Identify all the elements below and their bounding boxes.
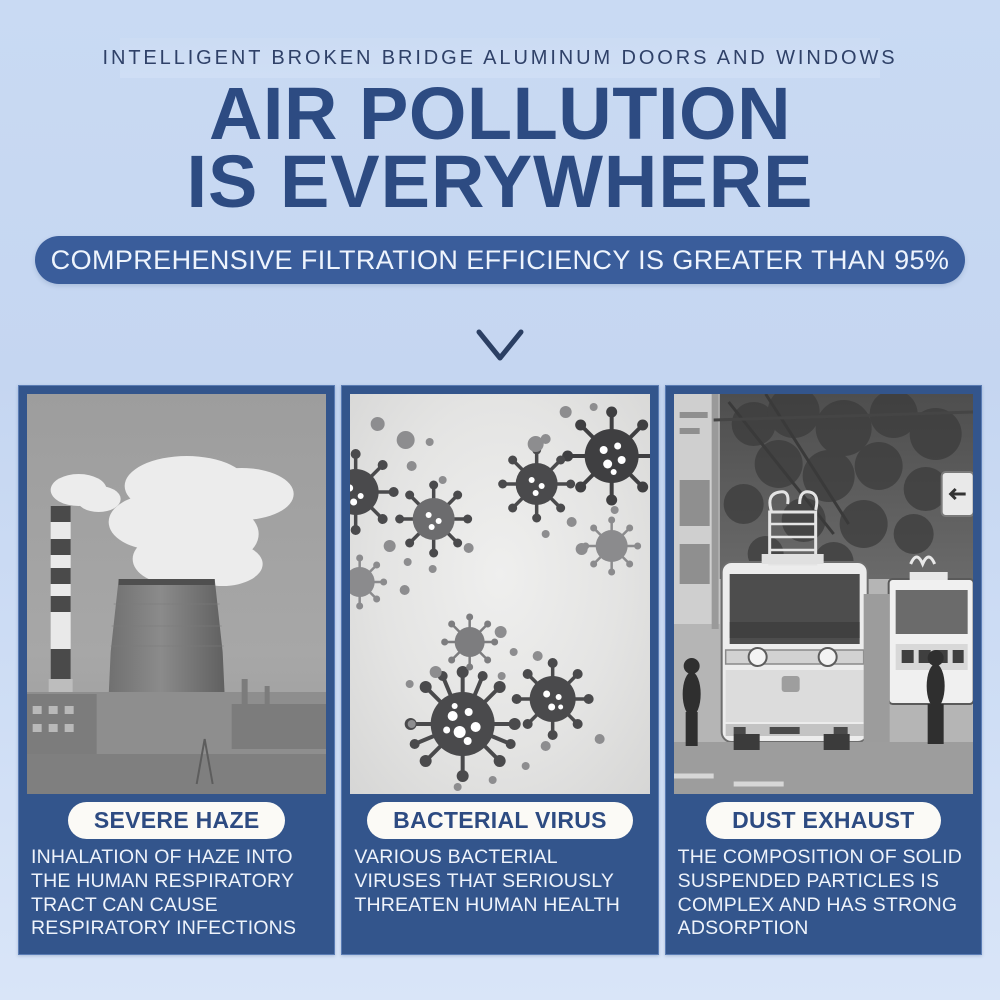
title-line-1: AIR POLLUTION (209, 80, 791, 148)
card-label: DUST EXHAUST (706, 802, 941, 839)
virus-illustration-image (350, 394, 649, 794)
page-title: AIR POLLUTION IS EVERYWHERE (0, 80, 1000, 216)
card-label-wrap: SEVERE HAZE (19, 794, 334, 846)
chevron-down-icon (473, 325, 527, 367)
card-dust-exhaust[interactable]: DUST EXHAUST THE COMPOSITION OF SOLID SU… (665, 385, 982, 955)
card-description: THE COMPOSITION OF SOLID SUSPENDED PARTI… (666, 846, 981, 951)
city-bus-image (674, 394, 973, 794)
card-description: INHALATION OF HAZE INTO THE HUMAN RESPIR… (19, 846, 334, 951)
card-description: VARIOUS BACTERIAL VIRUSES THAT SERIOUSLY… (342, 846, 657, 927)
efficiency-banner-text: COMPREHENSIVE FILTRATION EFFICIENCY IS G… (51, 245, 950, 276)
card-label-wrap: BACTERIAL VIRUS (342, 794, 657, 846)
cooling-tower-image (27, 394, 326, 794)
card-severe-haze[interactable]: SEVERE HAZE INHALATION OF HAZE INTO THE … (18, 385, 335, 955)
card-label: SEVERE HAZE (68, 802, 286, 839)
title-line-2: IS EVERYWHERE (186, 148, 813, 216)
header-subtitle: INTELLIGENT BROKEN BRIDGE ALUMINUM DOORS… (103, 47, 898, 70)
card-bacterial-virus[interactable]: BACTERIAL VIRUS VARIOUS BACTERIAL VIRUSE… (341, 385, 658, 955)
card-label-wrap: DUST EXHAUST (666, 794, 981, 846)
card-label: BACTERIAL VIRUS (367, 802, 633, 839)
efficiency-banner: COMPREHENSIVE FILTRATION EFFICIENCY IS G… (35, 236, 965, 284)
pollution-cards: SEVERE HAZE INHALATION OF HAZE INTO THE … (18, 385, 982, 955)
